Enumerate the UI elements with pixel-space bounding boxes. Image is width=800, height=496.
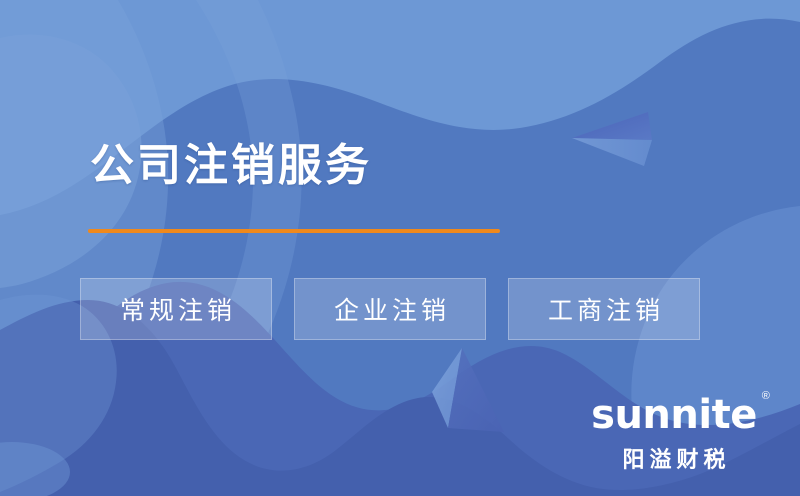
registered-trademark-icon: ® xyxy=(762,391,770,402)
logo-mark: sunnite ® xyxy=(591,395,757,435)
promo-banner: 公司注销服务 常规注销 企业注销 工商注销 sunnite ® 阳溢财税 xyxy=(0,0,800,496)
company-logo: sunnite ® 阳溢财税 xyxy=(584,395,764,474)
banner-content: 公司注销服务 常规注销 企业注销 工商注销 sunnite ® 阳溢财税 xyxy=(0,0,800,496)
page-title: 公司注销服务 xyxy=(90,140,372,192)
pill-changgui-zhuxiao[interactable]: 常规注销 xyxy=(80,278,272,340)
pill-gongshang-zhuxiao[interactable]: 工商注销 xyxy=(508,278,700,340)
service-pill-row: 常规注销 企业注销 工商注销 xyxy=(80,278,700,340)
logo-chinese-name: 阳溢财税 xyxy=(584,442,764,474)
logo-wordmark: sunnite xyxy=(591,392,757,438)
pill-qiye-zhuxiao[interactable]: 企业注销 xyxy=(294,278,486,340)
title-underline-divider xyxy=(88,229,500,233)
